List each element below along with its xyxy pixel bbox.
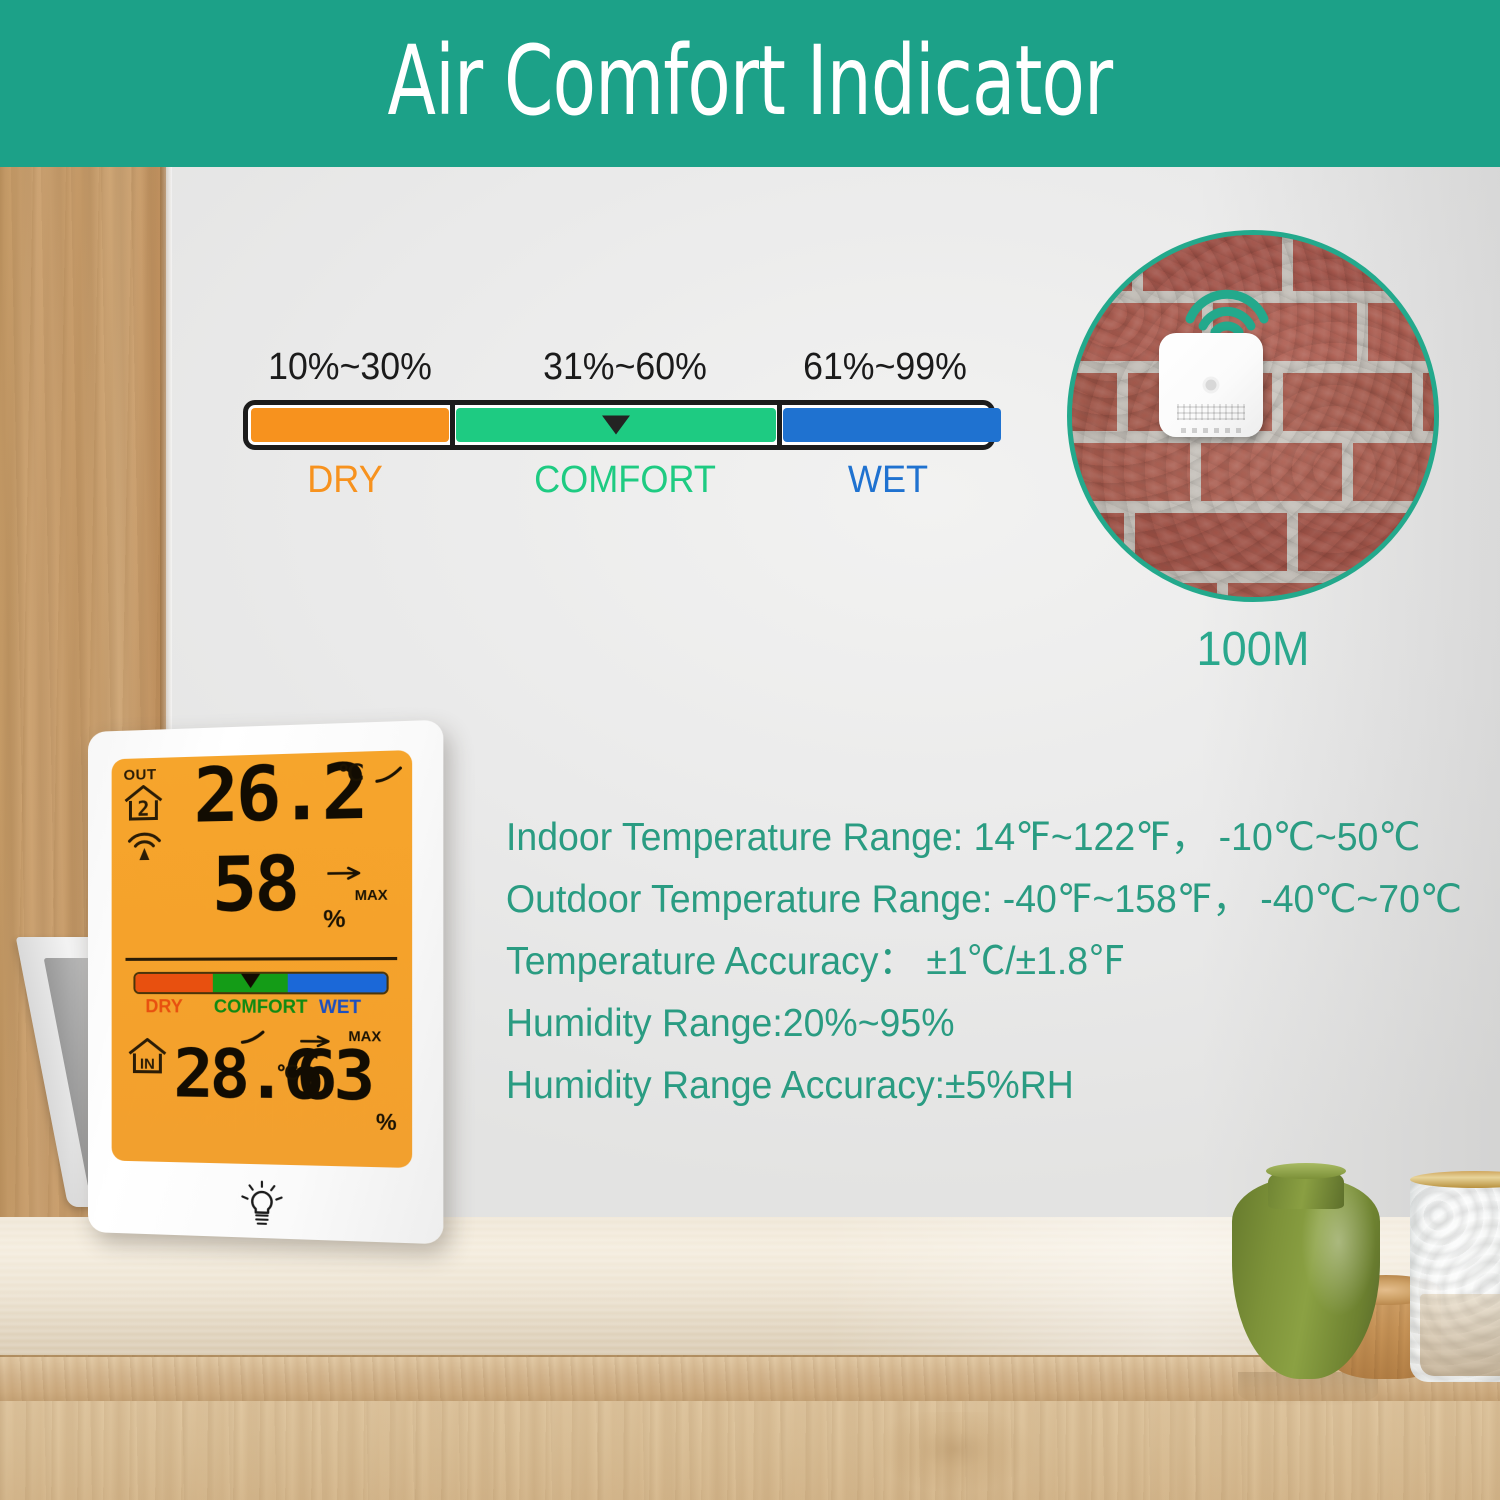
lcd-comfort-bar bbox=[133, 972, 388, 995]
bar-segment-comfort bbox=[456, 408, 776, 442]
brick-wall-circle bbox=[1067, 230, 1439, 602]
specification-list: Indoor Temperature Range: 14℉~122℉， -10℃… bbox=[506, 807, 1466, 1117]
sensor-bottom-slots bbox=[1181, 428, 1241, 433]
rf-signal-icon bbox=[125, 826, 163, 866]
zone-label-comfort: COMFORT bbox=[497, 459, 754, 502]
device-front-housing: OUT 2 bbox=[88, 720, 443, 1245]
lcd-section-divider bbox=[125, 957, 397, 961]
glass-liquid bbox=[1420, 1294, 1500, 1376]
lcd-bar-segment-comfort bbox=[213, 974, 288, 992]
range-label-wet: 61%~99% bbox=[777, 346, 993, 389]
counter-front-panel bbox=[0, 1401, 1500, 1500]
trend-up-icon bbox=[374, 763, 404, 791]
lcd-bar-segment-dry bbox=[135, 974, 212, 992]
room-scene: 10%~30% 31%~60% 61%~99% DRY COMFORT WET bbox=[0, 167, 1500, 1500]
svg-text:IN: IN bbox=[140, 1056, 155, 1072]
lcd-bar-segment-wet bbox=[288, 974, 387, 993]
percentage-range-row: 10%~30% 31%~60% 61%~99% bbox=[240, 346, 1000, 401]
lcd-zone-label-dry: DRY bbox=[145, 996, 182, 1017]
bar-divider bbox=[777, 401, 782, 449]
vase-rim bbox=[1266, 1163, 1346, 1179]
spec-outdoor-temperature-range: Outdoor Temperature Range: -40℉~158℉， -4… bbox=[506, 869, 1428, 931]
digital-thermometer-hygrometer: OUT 2 bbox=[40, 732, 440, 1252]
range-label-dry: 10%~30% bbox=[247, 346, 454, 389]
bar-divider bbox=[450, 401, 455, 449]
comfort-pointer-icon bbox=[602, 416, 630, 435]
lcd-screen: OUT 2 bbox=[112, 750, 413, 1168]
textured-drinking-glass bbox=[1410, 1167, 1500, 1382]
wifi-signal-icon bbox=[1184, 279, 1270, 333]
page-title: Air Comfort Indicator bbox=[388, 33, 1113, 135]
wireless-sensor-icon bbox=[1159, 333, 1263, 437]
lcd-zone-label-comfort: COMFORT bbox=[214, 996, 308, 1018]
house-in-icon: IN bbox=[125, 1035, 169, 1081]
zone-label-wet: WET bbox=[785, 459, 990, 502]
wireless-range-illustration: 100M bbox=[1067, 230, 1457, 700]
svg-text:2: 2 bbox=[137, 797, 149, 821]
lcd-outdoor-max-label: MAX bbox=[355, 886, 388, 903]
spec-humidity-range: Humidity Range:20%~95% bbox=[506, 993, 1428, 1055]
sensor-vent-grille bbox=[1177, 404, 1245, 420]
lcd-indoor-humidity: 63 bbox=[296, 1044, 371, 1110]
bar-segment-wet bbox=[783, 408, 1001, 442]
arrow-right-icon bbox=[327, 855, 363, 888]
spec-humidity-accuracy: Humidity Range Accuracy:±5%RH bbox=[506, 1055, 1428, 1117]
humidity-comfort-bar bbox=[243, 400, 995, 450]
bar-segment-dry bbox=[251, 408, 449, 442]
zone-label-dry: DRY bbox=[245, 459, 445, 502]
lcd-outdoor-humidity: 58 bbox=[212, 848, 297, 921]
spec-temperature-accuracy: Temperature Accuracy： ±1℃/±1.8℉ bbox=[506, 931, 1428, 993]
product-infographic: 10%~30% 31%~60% 61%~99% DRY COMFORT WET bbox=[0, 0, 1500, 1500]
house-out-channel-2-icon: 2 bbox=[122, 782, 166, 828]
wireless-range-label: 100M bbox=[1078, 622, 1428, 677]
wood-grain-knot bbox=[870, 1412, 1040, 1500]
lcd-outdoor-humidity-unit: % bbox=[323, 905, 345, 934]
lcd-zone-label-wet: WET bbox=[319, 996, 361, 1018]
lcd-indoor-humidity-unit: % bbox=[376, 1109, 397, 1136]
sensor-led-indicator bbox=[1206, 380, 1217, 391]
lcd-outdoor-temperature-unit: ℃ bbox=[338, 760, 364, 788]
spec-indoor-temperature-range: Indoor Temperature Range: 14℉~122℉， -10℃… bbox=[506, 807, 1428, 869]
comfort-indicator-diagram: 10%~30% 31%~60% 61%~99% DRY COMFORT WET bbox=[240, 346, 1000, 516]
light-bulb-icon[interactable] bbox=[240, 1180, 283, 1228]
header-banner: Air Comfort Indicator bbox=[0, 0, 1500, 167]
green-ceramic-vase bbox=[1232, 1157, 1380, 1379]
lcd-comfort-pointer-icon bbox=[240, 973, 261, 988]
range-label-comfort: 31%~60% bbox=[503, 346, 747, 389]
